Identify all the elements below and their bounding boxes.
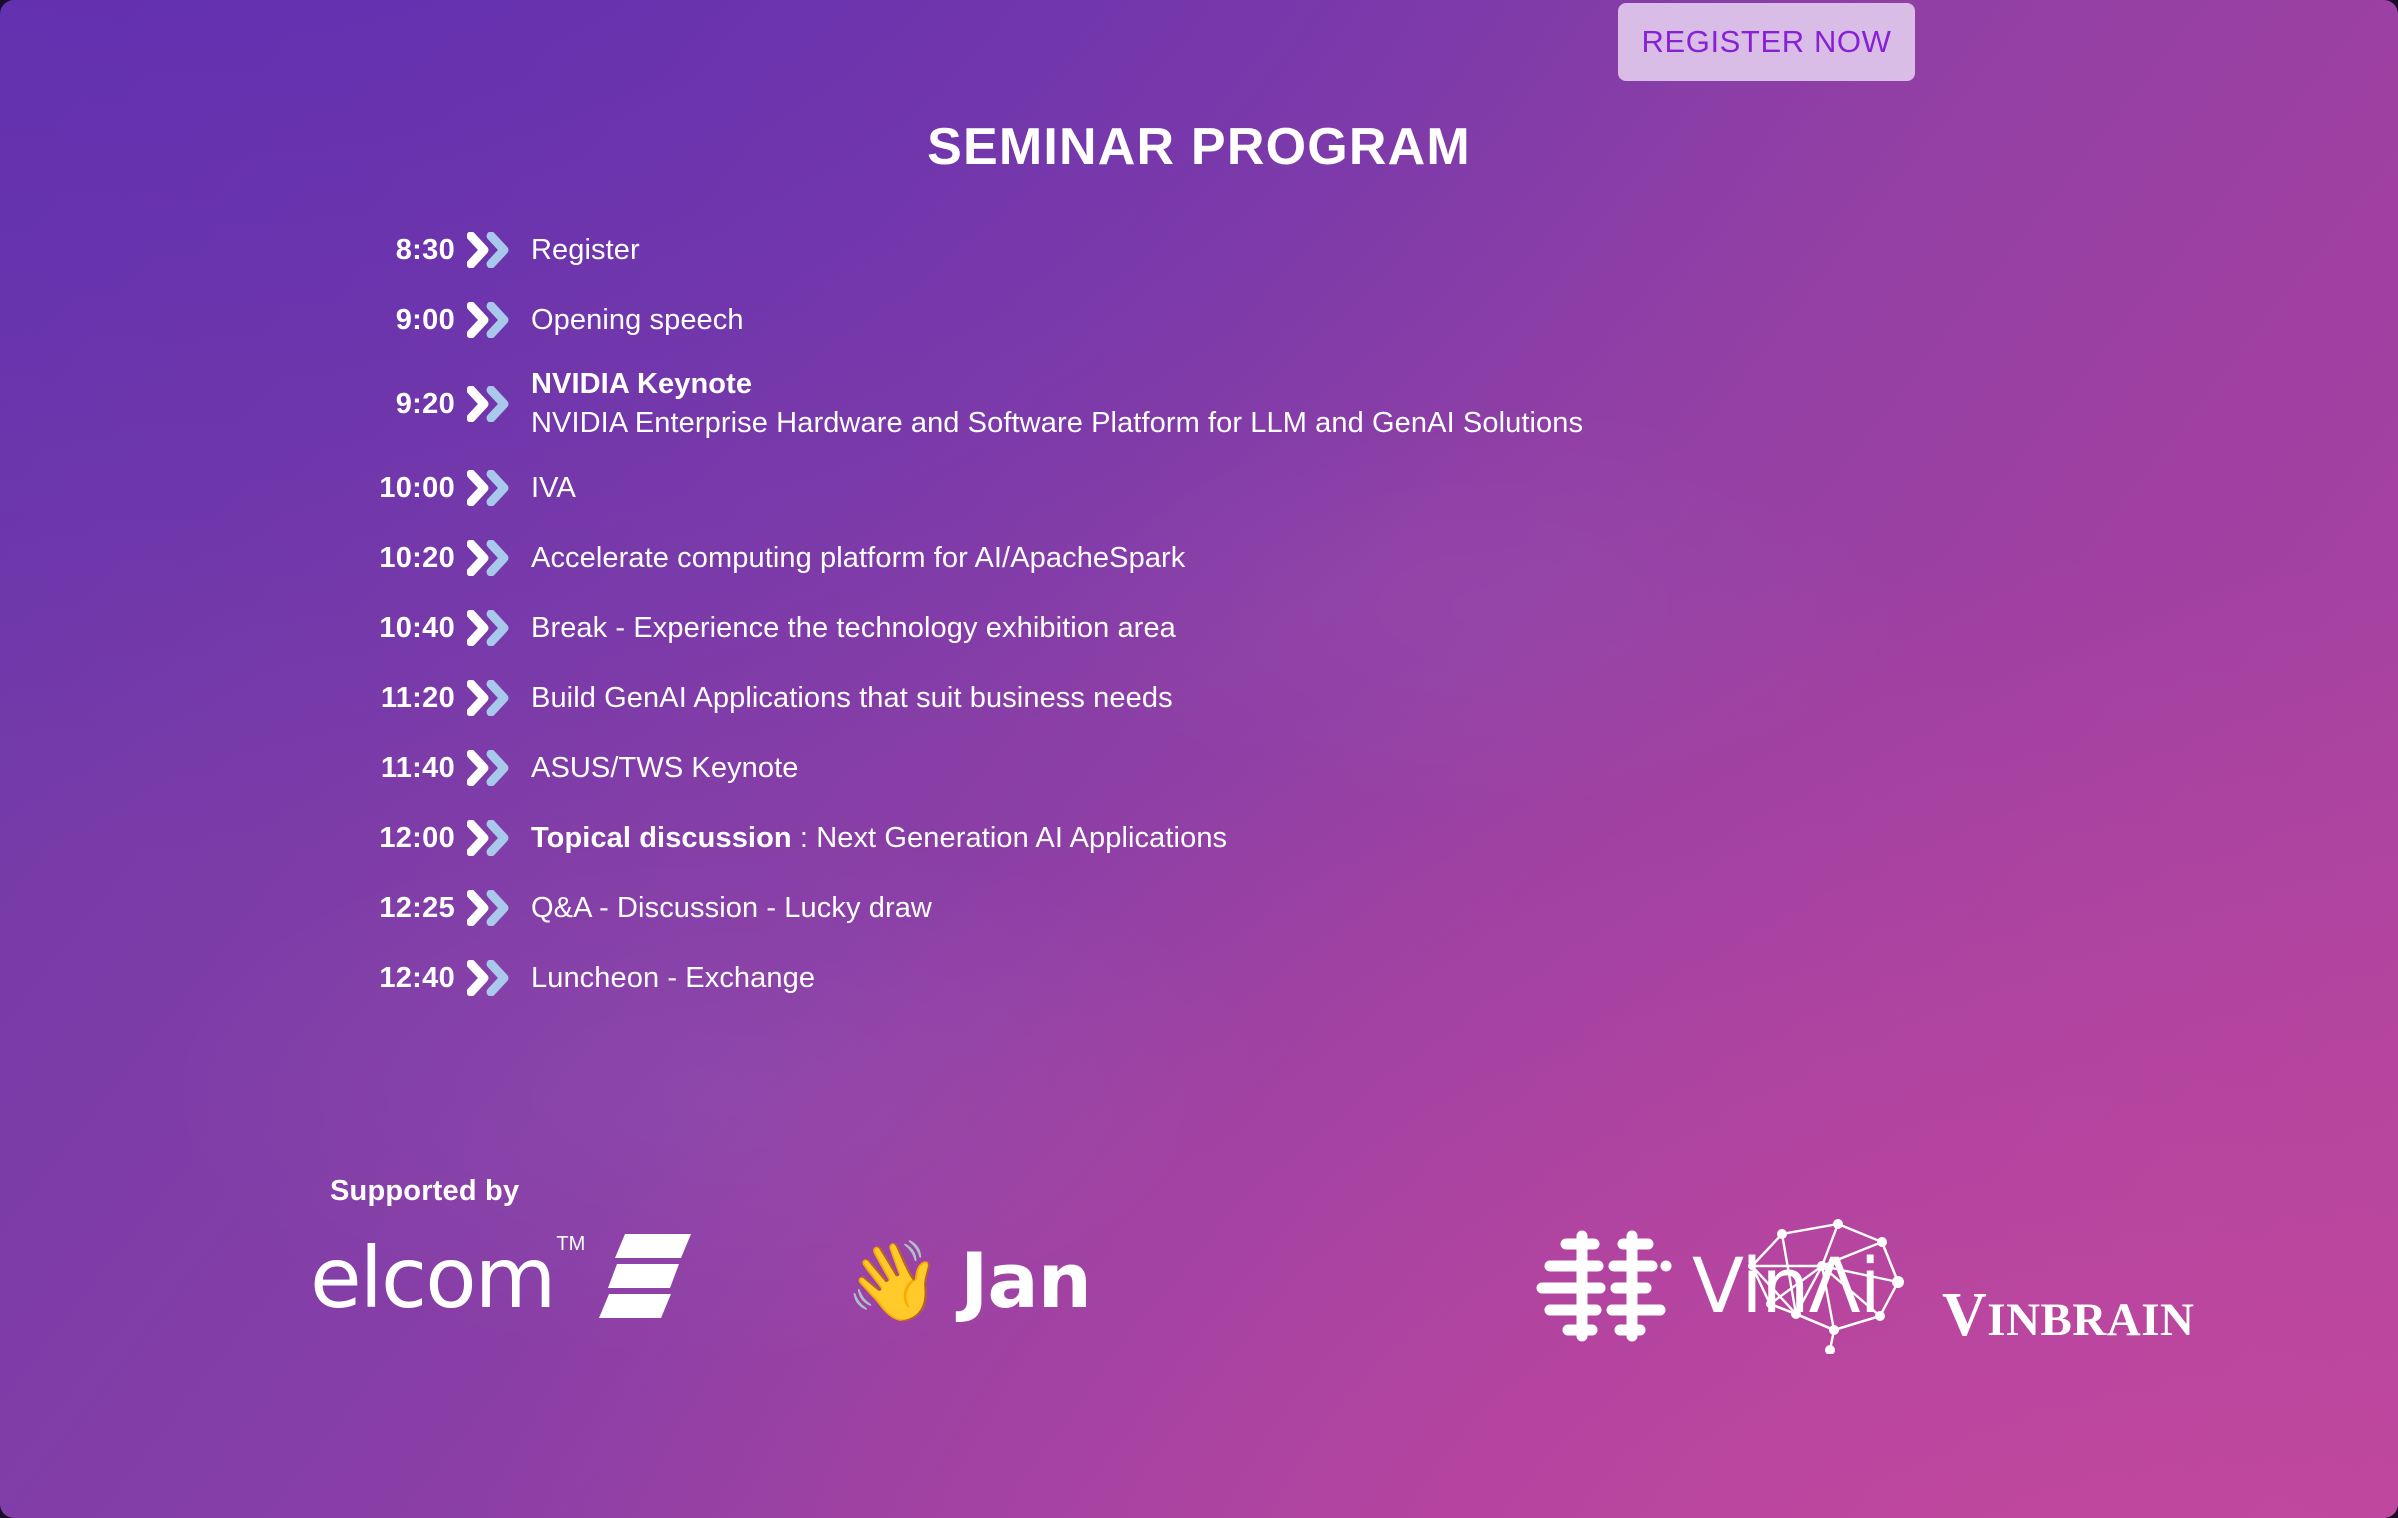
schedule-description: Accelerate computing platform for AI/Apa… xyxy=(531,539,1185,578)
schedule-row: 11:40 ASUS/TWS Keynote xyxy=(330,736,2230,800)
elcom-trademark: TM xyxy=(556,1233,585,1256)
schedule-time: 11:40 xyxy=(330,752,455,785)
double-chevron-right-icon xyxy=(455,610,531,646)
schedule-time: 12:00 xyxy=(330,822,455,855)
double-chevron-right-icon xyxy=(455,960,531,996)
schedule-time: 10:20 xyxy=(330,542,455,575)
sponsor-logos: elcom TM 👋 Jan xyxy=(310,1218,2310,1358)
schedule-time: 10:00 xyxy=(330,472,455,505)
supported-by-label: Supported by xyxy=(330,1175,519,1208)
schedule-row: 12:25 Q&A - Discussion - Lucky draw xyxy=(330,876,2230,940)
schedule-description: Opening speech xyxy=(531,301,744,340)
double-chevron-right-icon xyxy=(455,470,531,506)
schedule-row: 10:00 IVA xyxy=(330,456,2230,520)
vinbrain-wordmark: VINBRAIN xyxy=(1942,1280,2194,1351)
double-chevron-right-icon xyxy=(455,540,531,576)
schedule-row: 9:00 Opening speech xyxy=(330,288,2230,352)
schedule-title: NVIDIA Keynote xyxy=(531,365,1583,404)
vinbrain-wordmark-rest: INBRAIN xyxy=(1987,1294,2194,1346)
register-now-button[interactable]: REGISTER NOW xyxy=(1618,3,1915,81)
sponsor-logo-elcom: elcom TM xyxy=(310,1230,693,1327)
schedule-description: Build GenAI Applications that suit busin… xyxy=(531,679,1173,718)
page-title: SEMINAR PROGRAM xyxy=(0,117,2398,177)
brain-network-icon xyxy=(1730,1204,1960,1359)
schedule-row: 10:40 Break - Experience the technology … xyxy=(330,596,2230,660)
schedule-row: 12:40 Luncheon - Exchange xyxy=(330,946,2230,1010)
vinbrain-wordmark-cap: V xyxy=(1942,1281,1987,1349)
seminar-program-page: REGISTER NOW SEMINAR PROGRAM 8:30 Regist… xyxy=(0,0,2398,1518)
schedule-row: 8:30 Register xyxy=(330,218,2230,282)
double-chevron-right-icon xyxy=(455,680,531,716)
schedule-title-rest: : Next Generation AI Applications xyxy=(792,822,1227,854)
schedule-subtitle: NVIDIA Enterprise Hardware and Software … xyxy=(531,404,1583,443)
double-chevron-right-icon xyxy=(455,232,531,268)
schedule-description: Topical discussion : Next Generation AI … xyxy=(531,819,1227,858)
schedule-time: 12:25 xyxy=(330,892,455,925)
elcom-e-mark-icon xyxy=(595,1230,693,1327)
schedule-time: 12:40 xyxy=(330,962,455,995)
schedule-description: Q&A - Discussion - Lucky draw xyxy=(531,889,932,928)
schedule-time: 10:40 xyxy=(330,612,455,645)
double-chevron-right-icon xyxy=(455,750,531,786)
schedule-description: Luncheon - Exchange xyxy=(531,959,815,998)
jan-wordmark: Jan xyxy=(960,1236,1091,1325)
schedule-row: 10:20 Accelerate computing platform for … xyxy=(330,526,2230,590)
sponsor-logo-jan: 👋 Jan xyxy=(845,1236,1091,1325)
sponsor-logo-vinbrain: VINBRAIN xyxy=(1730,1204,2194,1359)
elcom-wordmark: elcom xyxy=(310,1241,554,1317)
schedule-time: 8:30 xyxy=(330,234,455,267)
schedule-description: NVIDIA Keynote NVIDIA Enterprise Hardwar… xyxy=(531,365,1583,443)
schedule-list: 8:30 Register 9:00 Opening speech 9:20 N… xyxy=(330,218,2230,1016)
schedule-time: 11:20 xyxy=(330,682,455,715)
double-chevron-right-icon xyxy=(455,890,531,926)
schedule-title: Topical discussion xyxy=(531,822,792,854)
schedule-time: 9:00 xyxy=(330,304,455,337)
schedule-time: 9:20 xyxy=(330,388,455,421)
double-chevron-right-icon xyxy=(455,820,531,856)
double-chevron-right-icon xyxy=(455,386,531,422)
schedule-description: Register xyxy=(531,231,640,270)
schedule-row: 11:20 Build GenAI Applications that suit… xyxy=(330,666,2230,730)
schedule-row: 9:20 NVIDIA Keynote NVIDIA Enterprise Ha… xyxy=(330,358,2230,450)
schedule-description: ASUS/TWS Keynote xyxy=(531,749,799,788)
waving-hand-icon: 👋 xyxy=(845,1242,942,1320)
vinai-dna-icon xyxy=(1528,1224,1678,1347)
schedule-description: Break - Experience the technology exhibi… xyxy=(531,609,1176,648)
schedule-row: 12:00 Topical discussion : Next Generati… xyxy=(330,806,2230,870)
schedule-description: IVA xyxy=(531,469,576,508)
double-chevron-right-icon xyxy=(455,302,531,338)
